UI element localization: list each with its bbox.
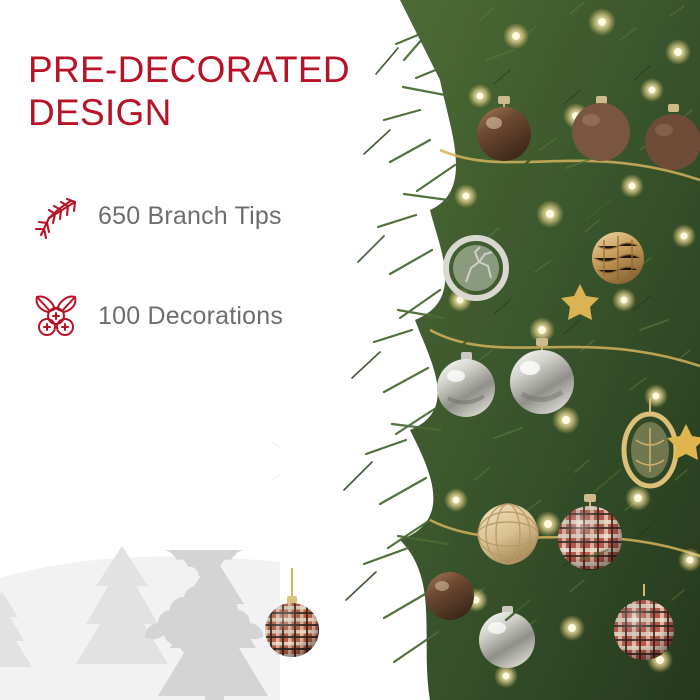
feature-item-branch-tips: 650 Branch Tips — [28, 185, 368, 247]
feature-item-decorations: 100 Decorations — [28, 285, 368, 347]
page-title: PRE-DECORATED DESIGN — [28, 48, 368, 135]
feature-label-branch-tips: 650 Branch Tips — [98, 202, 282, 231]
text-content: PRE-DECORATED DESIGN — [0, 0, 400, 400]
holly-berry-icon — [28, 288, 84, 344]
feature-list: 650 Branch Tips — [28, 185, 368, 385]
product-feature-banner: PRE-DECORATED DESIGN — [0, 0, 700, 700]
hanging-plaid-bauble — [262, 568, 322, 688]
feature-label-decorations: 100 Decorations — [98, 302, 283, 331]
pine-branch-icon — [28, 188, 84, 244]
